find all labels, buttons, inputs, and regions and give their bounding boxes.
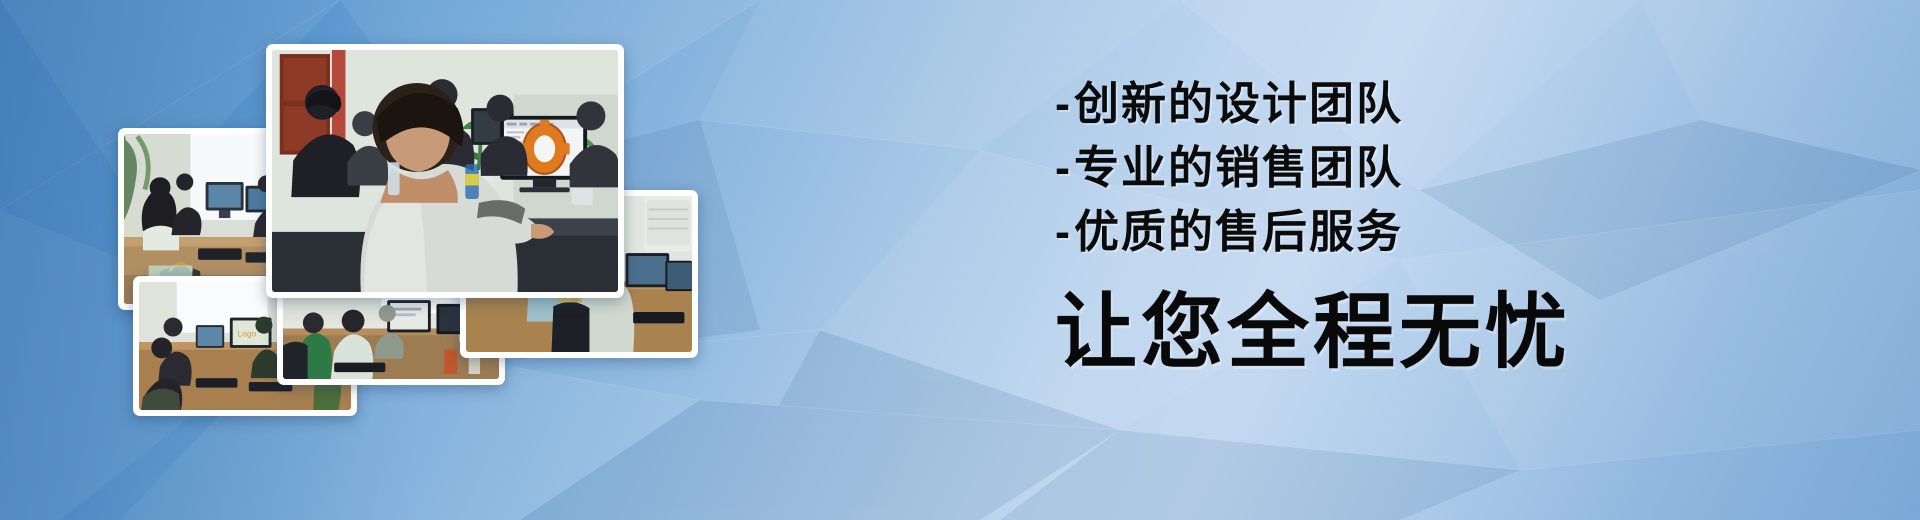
photo-collage: Logo [0,0,780,520]
bullet-line-3: -优质的售后服务 [1055,200,1695,264]
bullet-text-3: 优质的售后服务 [1074,206,1403,257]
bullet-dash-3: - [1055,200,1072,264]
bullet-dash-2: - [1055,136,1072,200]
bullet-text-2: 专业的销售团队 [1074,142,1403,193]
svg-text:Logo: Logo [237,329,256,339]
bullet-line-1: -创新的设计团队 [1055,72,1695,136]
headline: 让您全程无忧 [1055,290,1695,376]
marketing-copy: -创新的设计团队 -专业的销售团队 -优质的售后服务 让您全程无忧 [1055,72,1695,376]
team-meeting-photo [266,44,624,298]
promo-banner: Logo [0,0,1920,520]
bullet-dash-1: - [1055,72,1072,136]
bullet-text-1: 创新的设计团队 [1074,78,1403,129]
bullet-line-2: -专业的销售团队 [1055,136,1695,200]
